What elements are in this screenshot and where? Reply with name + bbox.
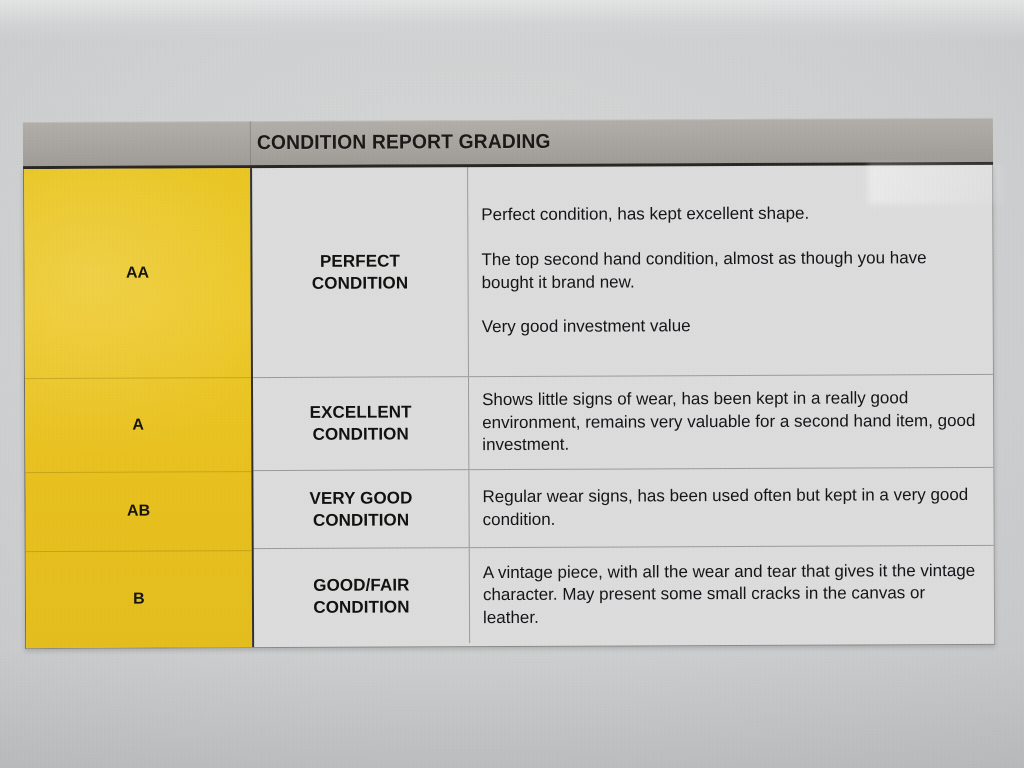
table-row: PERFECT CONDITION Perfect condition, has…: [252, 165, 993, 377]
header-column-divider: [250, 121, 251, 165]
grade-column: AA A AB B: [24, 168, 254, 648]
grade-label: AA: [126, 264, 149, 282]
table-row: VERY GOOD CONDITION Regular wear signs, …: [253, 467, 993, 548]
condition-name-line-1: VERY GOOD: [309, 488, 412, 507]
table-row: EXCELLENT CONDITION Shows little signs o…: [253, 374, 993, 470]
grade-cell-b: B: [26, 550, 252, 648]
description-paragraph: Regular wear signs, has been used often …: [482, 484, 979, 531]
condition-name-line-1: PERFECT: [320, 251, 400, 270]
description-cell: Shows little signs of wear, has been kep…: [469, 375, 993, 469]
rows-column: PERFECT CONDITION Perfect condition, has…: [252, 165, 994, 647]
page-title: CONDITION REPORT GRADING: [257, 120, 551, 165]
description-cell: Regular wear signs, has been used often …: [469, 468, 993, 547]
condition-name-cell: PERFECT CONDITION: [252, 167, 469, 377]
description-paragraph: A vintage piece, with all the wear and t…: [483, 560, 980, 630]
condition-name: VERY GOOD CONDITION: [309, 487, 412, 531]
condition-name-line-2: CONDITION: [313, 424, 409, 443]
condition-name-line-2: CONDITION: [313, 510, 409, 529]
description-paragraph: The top second hand condition, almost as…: [481, 247, 978, 294]
description-cell: A vintage piece, with all the wear and t…: [470, 546, 994, 643]
grade-cell-a: A: [25, 377, 251, 472]
condition-name-cell: EXCELLENT CONDITION: [253, 377, 469, 470]
condition-name-line-1: EXCELLENT: [310, 403, 412, 422]
description-paragraph: Shows little signs of wear, has been kep…: [482, 387, 979, 457]
condition-name-cell: GOOD/FAIR CONDITION: [254, 548, 470, 644]
grade-label: AB: [127, 503, 150, 521]
table-body: AA A AB B PERFECT CONDITION: [23, 165, 995, 649]
condition-report-grading-table: CONDITION REPORT GRADING AA A AB B PERFE…: [23, 118, 995, 649]
table-header-band: CONDITION REPORT GRADING: [23, 118, 993, 169]
description-paragraph: Perfect condition, has kept excellent sh…: [481, 202, 978, 227]
condition-name-line-2: CONDITION: [313, 597, 409, 616]
description-cell: Perfect condition, has kept excellent sh…: [468, 165, 993, 376]
grade-cell-aa: AA: [24, 168, 251, 378]
condition-name: GOOD/FAIR CONDITION: [313, 574, 409, 618]
condition-name: EXCELLENT CONDITION: [310, 402, 412, 446]
condition-name-line-2: CONDITION: [312, 273, 408, 292]
condition-name-cell: VERY GOOD CONDITION: [253, 470, 469, 548]
condition-name-line-1: GOOD/FAIR: [313, 575, 409, 594]
description-paragraph: Very good investment value: [482, 314, 979, 339]
table-row: GOOD/FAIR CONDITION A vintage piece, wit…: [254, 545, 994, 644]
condition-name: PERFECT CONDITION: [312, 250, 408, 294]
grade-cell-ab: AB: [25, 471, 251, 551]
grade-label: A: [132, 416, 144, 434]
grade-label: B: [133, 591, 145, 609]
